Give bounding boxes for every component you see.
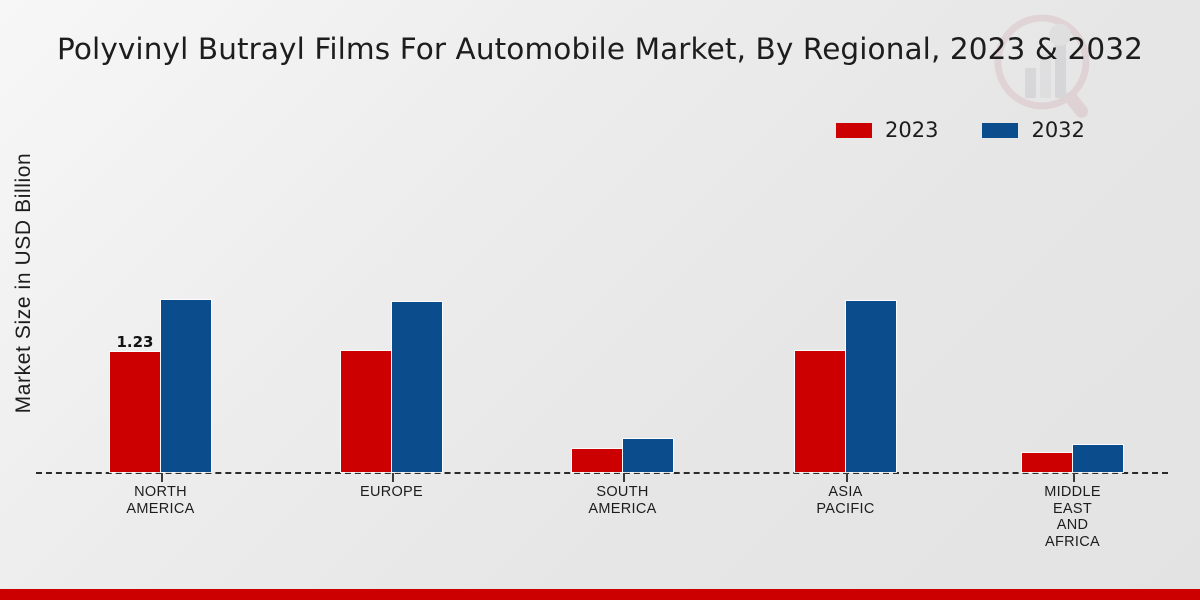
category-label-line: MIDDLE <box>978 484 1168 501</box>
bar-2032-south-america[interactable] <box>623 439 673 472</box>
chart-container: Polyvinyl Butrayl Films For Automobile M… <box>0 0 1200 600</box>
category-label-line: PACIFIC <box>751 501 941 518</box>
category-label-line: ASIA <box>751 484 941 501</box>
plot-area: 1.23 NORTHAMERICAEUROPESOUTHAMERICAASIAP… <box>0 0 1200 540</box>
category-label-line: AFRICA <box>978 534 1168 551</box>
bar-value-label: 1.23 <box>99 333 171 351</box>
x-axis-tick <box>1073 473 1075 482</box>
x-axis-category-label: NORTHAMERICA <box>66 484 256 517</box>
category-label-line: AMERICA <box>66 501 256 518</box>
x-axis-category-label: ASIAPACIFIC <box>751 484 941 517</box>
bar-2032-north-america[interactable] <box>161 300 211 472</box>
bar-2023-europe[interactable] <box>341 351 391 472</box>
bar-2023-south-america[interactable] <box>572 449 622 472</box>
x-axis-tick <box>161 473 163 482</box>
x-axis-tick <box>846 473 848 482</box>
category-label-line: AMERICA <box>528 501 718 518</box>
footer-accent-band <box>0 589 1200 600</box>
category-label-line: EUROPE <box>297 484 487 501</box>
bar-2032-asia-pacific[interactable] <box>846 301 896 472</box>
category-label-line: EAST <box>978 501 1168 518</box>
bar-2032-europe[interactable] <box>392 302 442 472</box>
category-label-line: SOUTH <box>528 484 718 501</box>
category-label-line: NORTH <box>66 484 256 501</box>
bar-2032-middle-east-and-africa[interactable] <box>1073 445 1123 472</box>
x-axis-tick <box>623 473 625 482</box>
bar-2023-middle-east-and-africa[interactable] <box>1022 453 1072 472</box>
bar-2023-north-america[interactable] <box>110 352 160 472</box>
x-axis-category-label: MIDDLEEASTANDAFRICA <box>978 484 1168 550</box>
bar-2023-asia-pacific[interactable] <box>795 351 845 472</box>
x-axis-baseline <box>36 472 1168 474</box>
x-axis-tick <box>392 473 394 482</box>
x-axis-category-label: EUROPE <box>297 484 487 501</box>
x-axis-category-label: SOUTHAMERICA <box>528 484 718 517</box>
category-label-line: AND <box>978 517 1168 534</box>
